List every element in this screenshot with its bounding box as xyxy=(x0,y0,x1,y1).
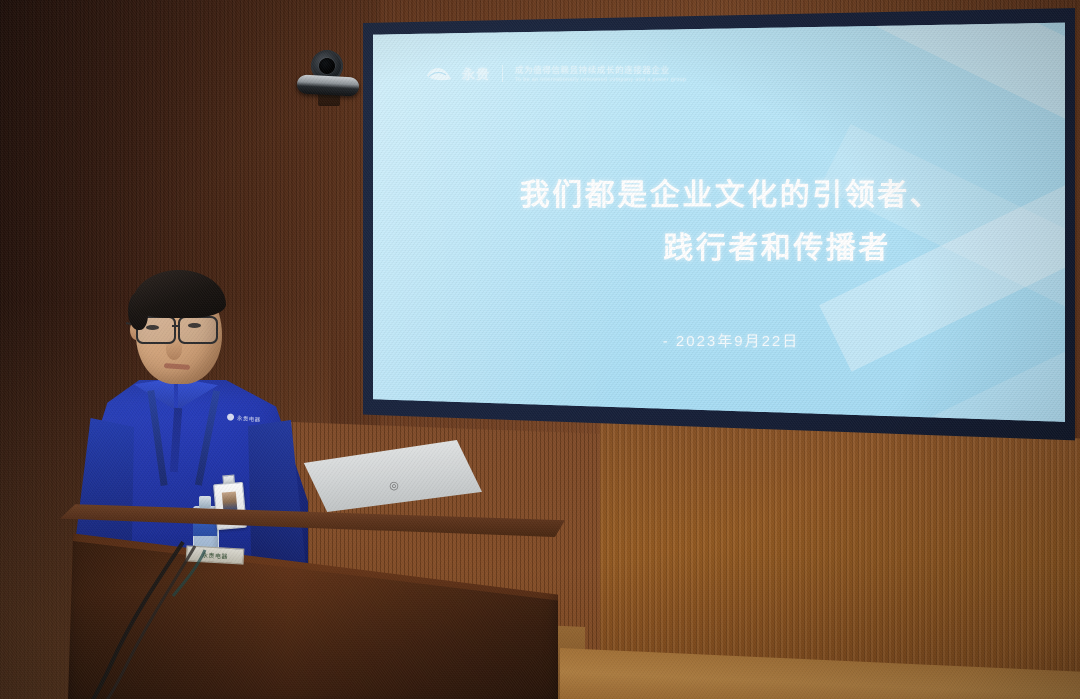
slide-title-line-1: 我们都是企业文化的引领者、 xyxy=(520,179,943,212)
hair xyxy=(132,270,226,318)
video-conference-camera-icon xyxy=(296,48,360,106)
shirt-logo-icon xyxy=(227,413,234,420)
podium-top-surface xyxy=(60,497,565,537)
slogan-english: To be an internationally renowned compan… xyxy=(515,77,686,83)
eyeglass-bridge xyxy=(172,325,180,327)
camera-body xyxy=(297,74,360,96)
shirt-logo-text: 永贵电器 xyxy=(237,414,261,424)
chevron-shape xyxy=(819,20,1065,130)
slide-title-line-2: 践行者和传播者 xyxy=(523,223,1031,276)
screen-surface: 永贵 成为值得信赖且持续成长的连接器企业 To be an internatio… xyxy=(373,20,1065,464)
cable-bundle xyxy=(55,540,245,699)
slide-title: 我们都是企业文化的引领者、 践行者和传播者 xyxy=(431,170,1031,275)
logo-wordmark: 永贵 xyxy=(462,64,490,83)
eyeglasses-icon xyxy=(134,316,226,342)
camera-lens xyxy=(319,58,335,74)
slide-slogan: 成为值得信赖且持续成长的连接器企业 To be an international… xyxy=(515,64,686,83)
eyeglass-lens-right xyxy=(178,316,218,344)
slide-header: 永贵 成为值得信赖且持续成长的连接器企业 To be an internatio… xyxy=(425,64,686,83)
logo-divider xyxy=(502,65,503,82)
slide-canvas: 永贵 成为值得信赖且持续成长的连接器企业 To be an internatio… xyxy=(373,20,1065,464)
slide-date: - 2023年9月22日 xyxy=(431,330,1031,351)
slogan-chinese: 成为值得信赖且持续成长的连接器企业 xyxy=(515,64,686,76)
presentation-photo-scene: 永贵 成为值得信赖且持续成长的连接器企业 To be an internatio… xyxy=(0,0,1080,699)
cloud-wave-logo-icon xyxy=(425,65,453,82)
projection-screen: 永贵 成为值得信赖且持续成长的连接器企业 To be an internatio… xyxy=(363,8,1075,478)
